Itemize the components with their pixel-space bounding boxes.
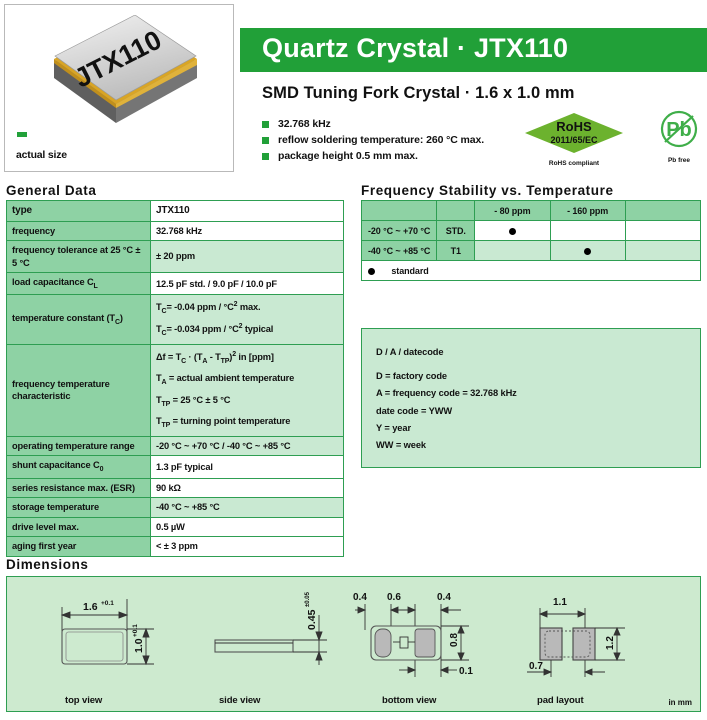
row-key: shunt capacitance C0 [7, 456, 151, 478]
mark-cell [475, 221, 550, 241]
table-header-row: - 80 ppm - 160 ppm [362, 201, 701, 221]
row-key: frequency tolerance at 25 °C ± 5 °C [7, 241, 151, 273]
table-row: type JTX110 [7, 201, 344, 222]
marking-lines: D = factory code A = frequency code = 32… [362, 371, 700, 450]
marking-line: A = frequency code = 32.768 kHz [362, 388, 700, 398]
svg-text:RoHS: RoHS [556, 119, 592, 134]
row-temp-range: -20 °C ~ +70 °C [362, 221, 437, 241]
bullet-text: package height 0.5 mm max. [278, 150, 418, 162]
legend-cell: standard [362, 261, 701, 281]
bullet-text: 32.768 kHz [278, 118, 331, 130]
row-value: -20 °C ~ +70 °C / -40 °C ~ +85 °C [151, 436, 344, 456]
mark-cell [550, 221, 625, 241]
bullet-square-icon [262, 137, 269, 144]
svg-text:1.2: 1.2 [605, 636, 616, 650]
row-key: frequency temperature characteristic [7, 345, 151, 437]
svg-text:0.1: 0.1 [459, 666, 473, 677]
page-subtitle: SMD Tuning Fork Crystal · 1.6 x 1.0 mm [262, 84, 574, 103]
row-value: 90 kΩ [151, 478, 344, 498]
marking-line: D = factory code [362, 371, 700, 381]
standard-dot-icon [368, 268, 375, 275]
table-row: drive level max. 0.5 µW [7, 517, 344, 537]
row-key: operating temperature range [7, 436, 151, 456]
row-key: type [7, 201, 151, 222]
row-temp-range: -40 °C ~ +85 °C [362, 241, 437, 261]
stability-heading: Frequency Stability vs. Temperature [361, 183, 614, 198]
row-key: drive level max. [7, 517, 151, 537]
header-banner: Quartz Crystal · JTX110 [240, 28, 707, 72]
table-row: operating temperature range -20 °C ~ +70… [7, 436, 344, 456]
row-key: frequency [7, 221, 151, 241]
row-value: < ± 3 ppm [151, 537, 344, 557]
table-row: series resistance max. (ESR) 90 kΩ [7, 478, 344, 498]
stability-table: - 80 ppm - 160 ppm -20 °C ~ +70 °C STD. … [361, 200, 701, 281]
row-value: 0.5 µW [151, 517, 344, 537]
table-row: aging first year < ± 3 ppm [7, 537, 344, 557]
marking-line: date code = YWW [362, 406, 700, 416]
bullet-square-icon [262, 121, 269, 128]
actual-size-caption: actual size [16, 149, 67, 161]
svg-text:0.4: 0.4 [353, 592, 367, 603]
svg-text:±0.05: ±0.05 [305, 591, 311, 607]
dimensions-heading: Dimensions [6, 557, 89, 572]
marking-line: WW = week [362, 440, 700, 450]
standard-dot-icon [584, 248, 591, 255]
table-row: storage temperature -40 °C ~ +85 °C [7, 498, 344, 518]
svg-text:0.8: 0.8 [449, 633, 460, 647]
product-photo-box: JTX110 actual size [4, 4, 234, 172]
col-header-160ppm: - 160 ppm [550, 201, 625, 221]
row-value: JTX110 [151, 201, 344, 222]
list-item: package height 0.5 mm max. [262, 150, 484, 162]
crystal-image: JTX110 [27, 15, 217, 125]
row-key: load capacitance CL [7, 273, 151, 295]
table-row: frequency tolerance at 25 °C ± 5 °C ± 20… [7, 241, 344, 273]
page-title: Quartz Crystal · JTX110 [240, 28, 707, 64]
row-value: ± 20 ppm [151, 241, 344, 273]
pad-layout-drawing: 1.1 1.2 0.7 [507, 582, 687, 690]
marking-box: D / A / datecode D = factory code A = fr… [361, 328, 701, 468]
unit-note: in mm [668, 698, 692, 707]
svg-text:0.6: 0.6 [387, 592, 401, 603]
actual-size-swatch [17, 132, 27, 137]
dimensions-box: 1.6 +0.1 1.0 +0.1 top view 0.45 ±0.05 si… [6, 576, 701, 712]
svg-text:2011/65/EC: 2011/65/EC [550, 135, 598, 145]
top-view-drawing: 1.6 +0.1 1.0 +0.1 [29, 585, 189, 690]
row-value: 12.5 pF std. / 9.0 pF / 10.0 pF [151, 273, 344, 295]
pb-free-caption: Pb free [655, 157, 703, 164]
col-header-blank-3 [625, 201, 700, 221]
legend-label: standard [391, 266, 428, 276]
list-item: 32.768 kHz [262, 118, 484, 130]
view-label-bottom: bottom view [382, 695, 436, 706]
bullet-square-icon [262, 153, 269, 160]
table-row: frequency temperature characteristic Δf … [7, 345, 344, 437]
svg-text:0.7: 0.7 [529, 661, 543, 672]
svg-text:0.45: 0.45 [306, 609, 318, 630]
top-section: JTX110 actual size Quartz Crystal · JTX1… [0, 0, 707, 178]
general-data-heading: General Data [6, 183, 97, 198]
side-view-drawing: 0.45 ±0.05 [197, 585, 367, 690]
row-value: Δf = TC · (TA - TTP)2 in [ppm] TA = actu… [151, 345, 344, 437]
row-key: temperature constant (TC) [7, 295, 151, 345]
table-row: -20 °C ~ +70 °C STD. [362, 221, 701, 241]
svg-text:1.6: 1.6 [83, 601, 98, 613]
mark-cell [625, 221, 700, 241]
svg-text:1.1: 1.1 [553, 597, 567, 608]
row-key: series resistance max. (ESR) [7, 478, 151, 498]
table-legend-row: standard [362, 261, 701, 281]
col-header-blank-2 [437, 201, 475, 221]
view-label-top: top view [65, 695, 102, 706]
marking-title: D / A / datecode [362, 329, 700, 357]
svg-text:+0.1: +0.1 [101, 600, 114, 607]
mark-cell [625, 241, 700, 261]
mark-cell [550, 241, 625, 261]
bullet-text: reflow soldering temperature: 260 °C max… [278, 134, 484, 146]
rohs-caption: RoHS compliant [524, 160, 624, 167]
svg-text:1.0: 1.0 [133, 638, 145, 653]
row-key: aging first year [7, 537, 151, 557]
row-value: 1.3 pF typical [151, 456, 344, 478]
rohs-badge: RoHS 2011/65/EC RoHS compliant [524, 112, 624, 167]
mark-cell [475, 241, 550, 261]
rohs-diamond-icon: RoHS 2011/65/EC [524, 112, 624, 154]
view-label-pad: pad layout [537, 695, 584, 706]
general-data-table: type JTX110 frequency 32.768 kHz frequen… [6, 200, 344, 557]
view-label-side: side view [219, 695, 260, 706]
col-header-80ppm: - 80 ppm [475, 201, 550, 221]
row-value: 32.768 kHz [151, 221, 344, 241]
table-row: frequency 32.768 kHz [7, 221, 344, 241]
row-value: -40 °C ~ +85 °C [151, 498, 344, 518]
svg-text:0.4: 0.4 [437, 592, 451, 603]
svg-text:+0.1: +0.1 [132, 624, 139, 637]
list-item: reflow soldering temperature: 260 °C max… [262, 134, 484, 146]
row-value: TC= -0.04 ppm / °C2 max. TC= -0.034 ppm … [151, 295, 344, 345]
marking-line: Y = year [362, 423, 700, 433]
row-key: storage temperature [7, 498, 151, 518]
standard-dot-icon [509, 228, 516, 235]
row-code: STD. [437, 221, 475, 241]
feature-bullets: 32.768 kHz reflow soldering temperature:… [262, 118, 484, 166]
col-header-blank-1 [362, 201, 437, 221]
table-row: load capacitance CL 12.5 pF std. / 9.0 p… [7, 273, 344, 295]
table-row: -40 °C ~ +85 °C T1 [362, 241, 701, 261]
pb-free-badge: Pb Pb free [655, 108, 703, 164]
table-row: shunt capacitance C0 1.3 pF typical [7, 456, 344, 478]
table-row: temperature constant (TC) TC= -0.04 ppm … [7, 295, 344, 345]
bottom-view-drawing: 0.4 0.6 0.4 0.8 0.1 [349, 582, 529, 690]
pb-free-icon: Pb [657, 108, 701, 152]
row-code: T1 [437, 241, 475, 261]
